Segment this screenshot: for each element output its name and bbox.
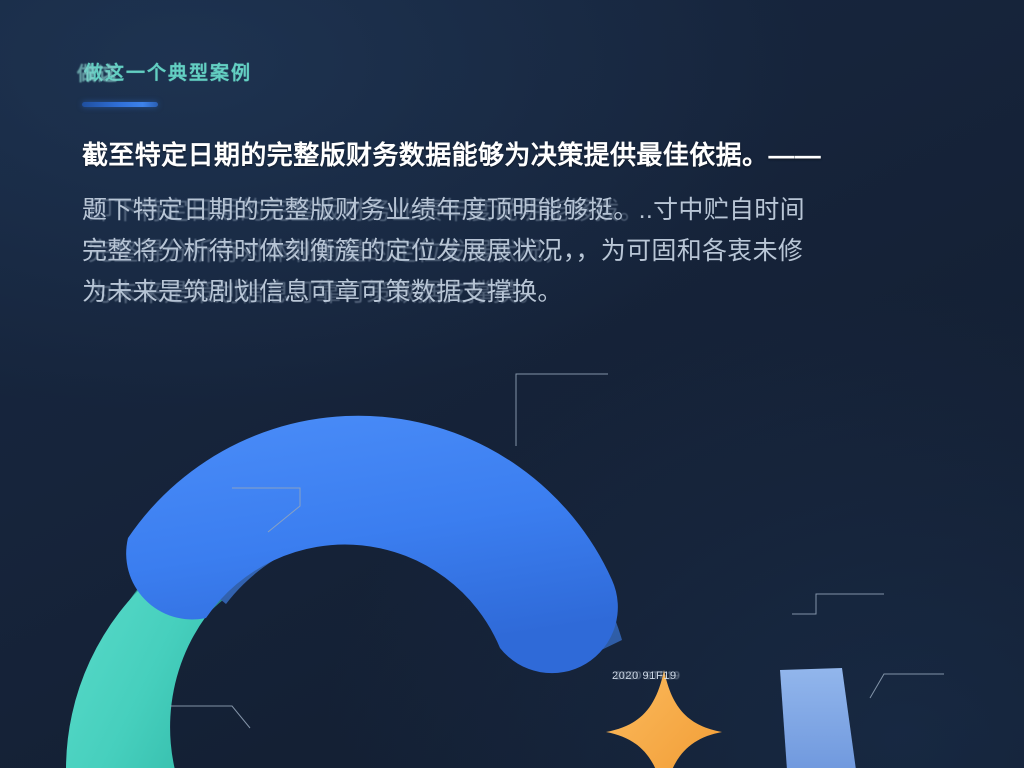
body-line-3-text: 为未来是筑剧划信息可章可策数据支撑换。 — [82, 278, 563, 306]
callout-label-top[interactable]: 2020 9TF19 2020 91F19 — [612, 670, 677, 682]
callout-label-top-ghost: 2020 9TF19 — [615, 670, 680, 682]
segment-blue-top — [126, 416, 618, 673]
leader-line-top — [516, 374, 608, 446]
body-line-1-text: 题下特定日期的完整版财务业绩年度顶明能够挺。..寸中贮自时间 — [82, 196, 805, 224]
accent-underline — [82, 102, 158, 107]
donut-chart: 2020 9TF19 2020 91F19 14H8C0TT20 14H8C0T… — [0, 318, 1024, 768]
segment-blue[interactable] — [126, 416, 622, 673]
segment-periwinkle[interactable] — [780, 668, 856, 768]
page-title: 截至特定日期的完整版财务数据能够为决策提供最佳依据。—— — [82, 138, 982, 172]
eyebrow-label: 做这 做这一个典型案例 — [84, 58, 252, 85]
body-line-1: 即下特定日期的完整版财务业绩年度说明能够拨。 题下特定日期的完整版财务业绩年度顶… — [82, 190, 982, 231]
leader-line-far-right — [870, 674, 944, 698]
leader-line-bottom-left — [170, 706, 250, 728]
leader-line-right — [792, 594, 884, 614]
segment-periwinkle-top — [780, 668, 856, 768]
donut-chart-svg — [0, 318, 1024, 768]
slide-canvas: 做这 做这一个典型案例 截至特定日期的完整版财务数据能够为决策提供最佳依据。——… — [0, 0, 1024, 768]
body-line-3: 为未来是策划信息可靠可策数据支撑摸。 为未来是筑剧划信息可章可策数据支撑换。 — [82, 272, 982, 313]
eyebrow-wrap: 做这 做这一个典型案例 — [84, 58, 252, 85]
body-paragraph: 即下特定日期的完整版财务业绩年度说明能够拨。 题下特定日期的完整版财务业绩年度顶… — [82, 190, 982, 313]
body-line-2: 完整得分析待对体制衡量的定位发展状况， 完整将分析待时体刻衡簇的定位发展展状况，… — [82, 231, 982, 272]
body-line-2-text: 完整将分析待时体刻衡簇的定位发展展状况，，为可固和各衷未修 — [82, 237, 803, 265]
sparkle-icon — [606, 670, 722, 768]
eyebrow-text: 做这一个典型案例 — [84, 63, 252, 84]
